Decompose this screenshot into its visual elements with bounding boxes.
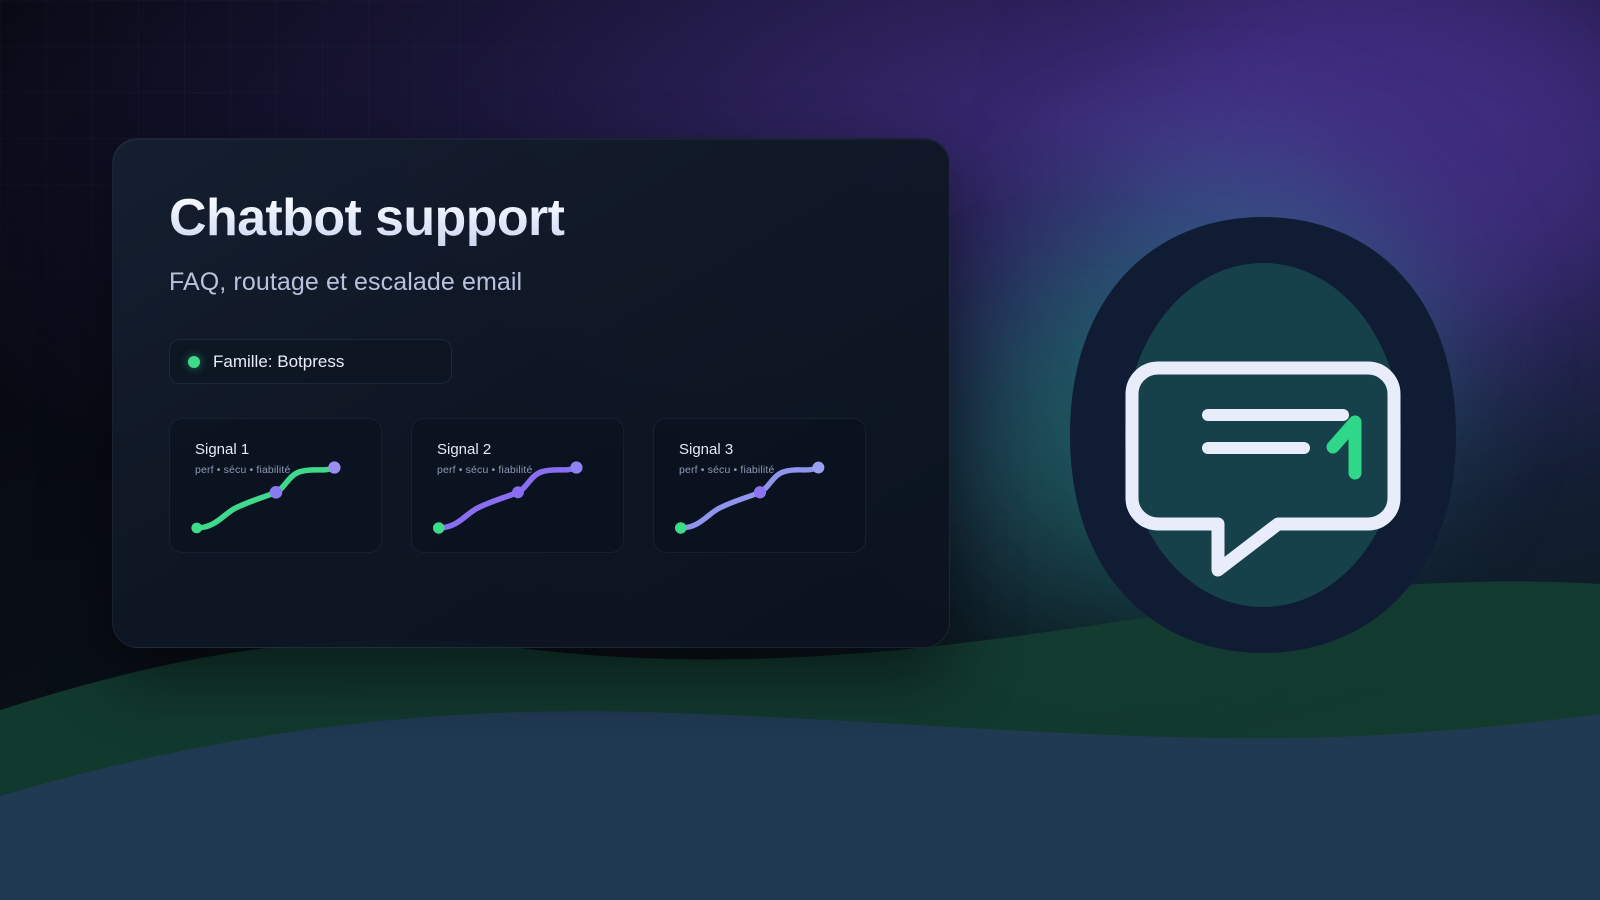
- signal-card[interactable]: Signal 3 perf • sécu • fiabilité: [653, 418, 866, 553]
- sparkline-start-dot: [675, 522, 686, 533]
- sparkline-path: [439, 468, 577, 528]
- sparkline-start-dot: [433, 522, 444, 533]
- signal-card-tags: perf • sécu • fiabilité: [679, 464, 774, 476]
- product-badge: [1058, 205, 1468, 665]
- signal-card-tags: perf • sécu • fiabilité: [437, 464, 532, 476]
- sparkline-start-dot: [191, 523, 202, 534]
- signal-card-title: Signal 2: [437, 441, 491, 458]
- sparkline-mid-dot: [270, 486, 283, 499]
- sparkline-chart: [170, 419, 381, 553]
- sparkline-end-dot: [328, 462, 340, 474]
- signal-card-title: Signal 3: [679, 441, 733, 458]
- signal-card-row: Signal 1 perf • sécu • fiabilité Signal …: [169, 418, 893, 553]
- sparkline-path: [197, 468, 335, 528]
- signal-card-title: Signal 1: [195, 441, 249, 458]
- page-subtitle: FAQ, routage et escalade email: [169, 268, 893, 297]
- family-badge-label: Famille: Botpress: [213, 352, 344, 372]
- sparkline-chart: [654, 419, 865, 553]
- page-title: Chatbot support: [169, 191, 893, 246]
- sparkline-path: [681, 468, 819, 528]
- signal-card[interactable]: Signal 1 perf • sécu • fiabilité: [169, 418, 382, 553]
- hero-card: Chatbot support FAQ, routage et escalade…: [112, 138, 950, 648]
- signal-card-tags: perf • sécu • fiabilité: [195, 464, 290, 476]
- sparkline-end-dot: [812, 462, 824, 474]
- sparkline-end-dot: [570, 462, 582, 474]
- sparkline-mid-dot: [512, 486, 524, 498]
- sparkline-mid-dot: [754, 486, 766, 498]
- page-root: Chatbot support FAQ, routage et escalade…: [0, 0, 1600, 900]
- sparkline-chart: [412, 419, 623, 553]
- family-badge[interactable]: Famille: Botpress: [169, 339, 452, 384]
- signal-card[interactable]: Signal 2 perf • sécu • fiabilité: [411, 418, 624, 553]
- status-dot-icon: [188, 356, 200, 368]
